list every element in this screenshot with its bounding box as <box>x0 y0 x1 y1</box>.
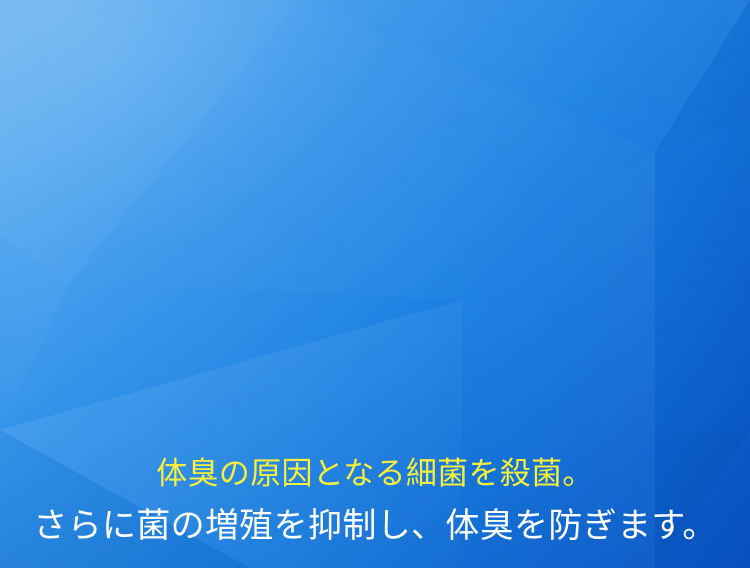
headline-line-2: さらに菌の増殖を抑制し、体臭を防ぎます。 <box>0 502 750 550</box>
headline-line-1: 体臭の原因となる細菌を殺菌。 <box>0 452 750 496</box>
headline-block: 体臭の原因となる細菌を殺菌。 さらに菌の増殖を抑制し、体臭を防ぎます。 <box>0 452 750 550</box>
promo-banner: 体臭の原因となる細菌を殺菌。 さらに菌の増殖を抑制し、体臭を防ぎます。 <box>0 0 750 568</box>
